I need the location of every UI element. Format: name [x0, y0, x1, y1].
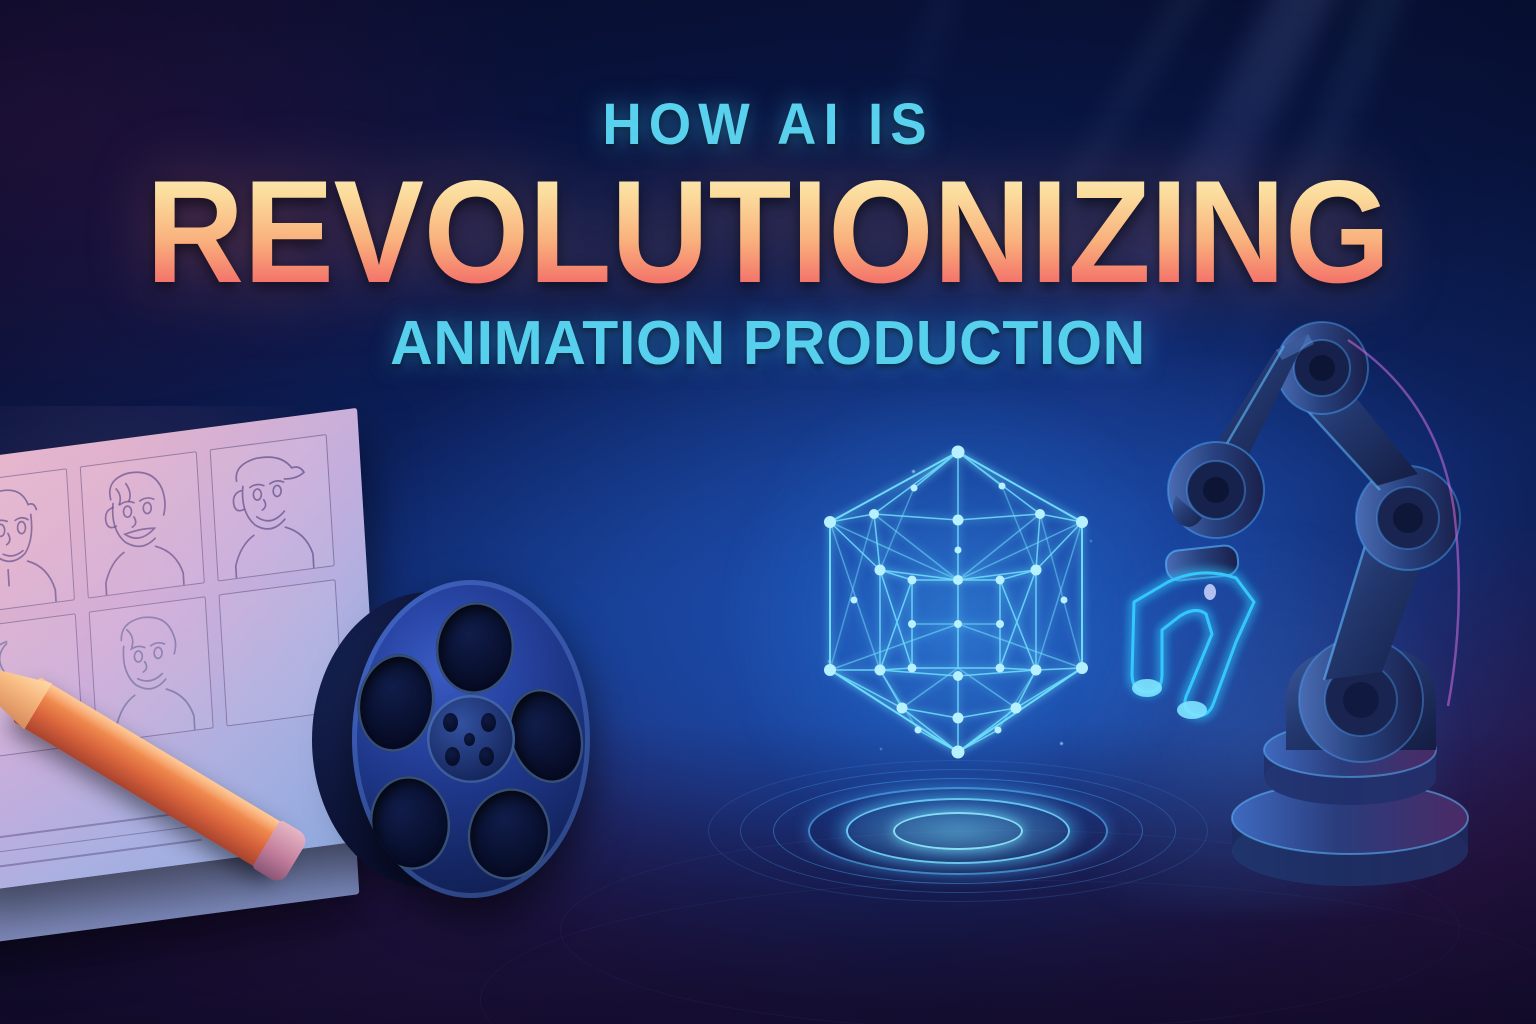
- film-reel-hub: [427, 695, 515, 783]
- robot-gripper-tip-glow: [1132, 679, 1207, 719]
- storyboard-panel: [0, 468, 75, 615]
- film-reel-hub-hole: [479, 747, 494, 766]
- storyboard-panel: [80, 451, 205, 598]
- title-line-1: HOW AI IS: [46, 96, 1490, 154]
- industrial-robot-arm: [1118, 310, 1536, 910]
- film-reel-hub-hole: [443, 713, 458, 732]
- film-reel-icon: [338, 580, 590, 900]
- film-reel-disc: [352, 580, 590, 898]
- film-reel-hub-hole: [464, 733, 475, 746]
- title-line-2: REVOLUTIONIZING: [54, 158, 1482, 307]
- robot-arm-icon: [1118, 310, 1536, 910]
- storyboard-panel: [210, 434, 335, 581]
- film-reel-hub-hole: [445, 747, 460, 766]
- title-line-3: ANIMATION PRODUCTION: [38, 313, 1497, 375]
- hologram-nodes: [824, 446, 1088, 759]
- page-title: HOW AI IS REVOLUTIONIZING ANIMATION PROD…: [0, 96, 1536, 375]
- robot-wrist-joint: [1168, 442, 1264, 538]
- film-reel-hub-hole: [481, 713, 496, 732]
- poster-canvas: HOW AI IS REVOLUTIONIZING ANIMATION PROD…: [0, 0, 1536, 1024]
